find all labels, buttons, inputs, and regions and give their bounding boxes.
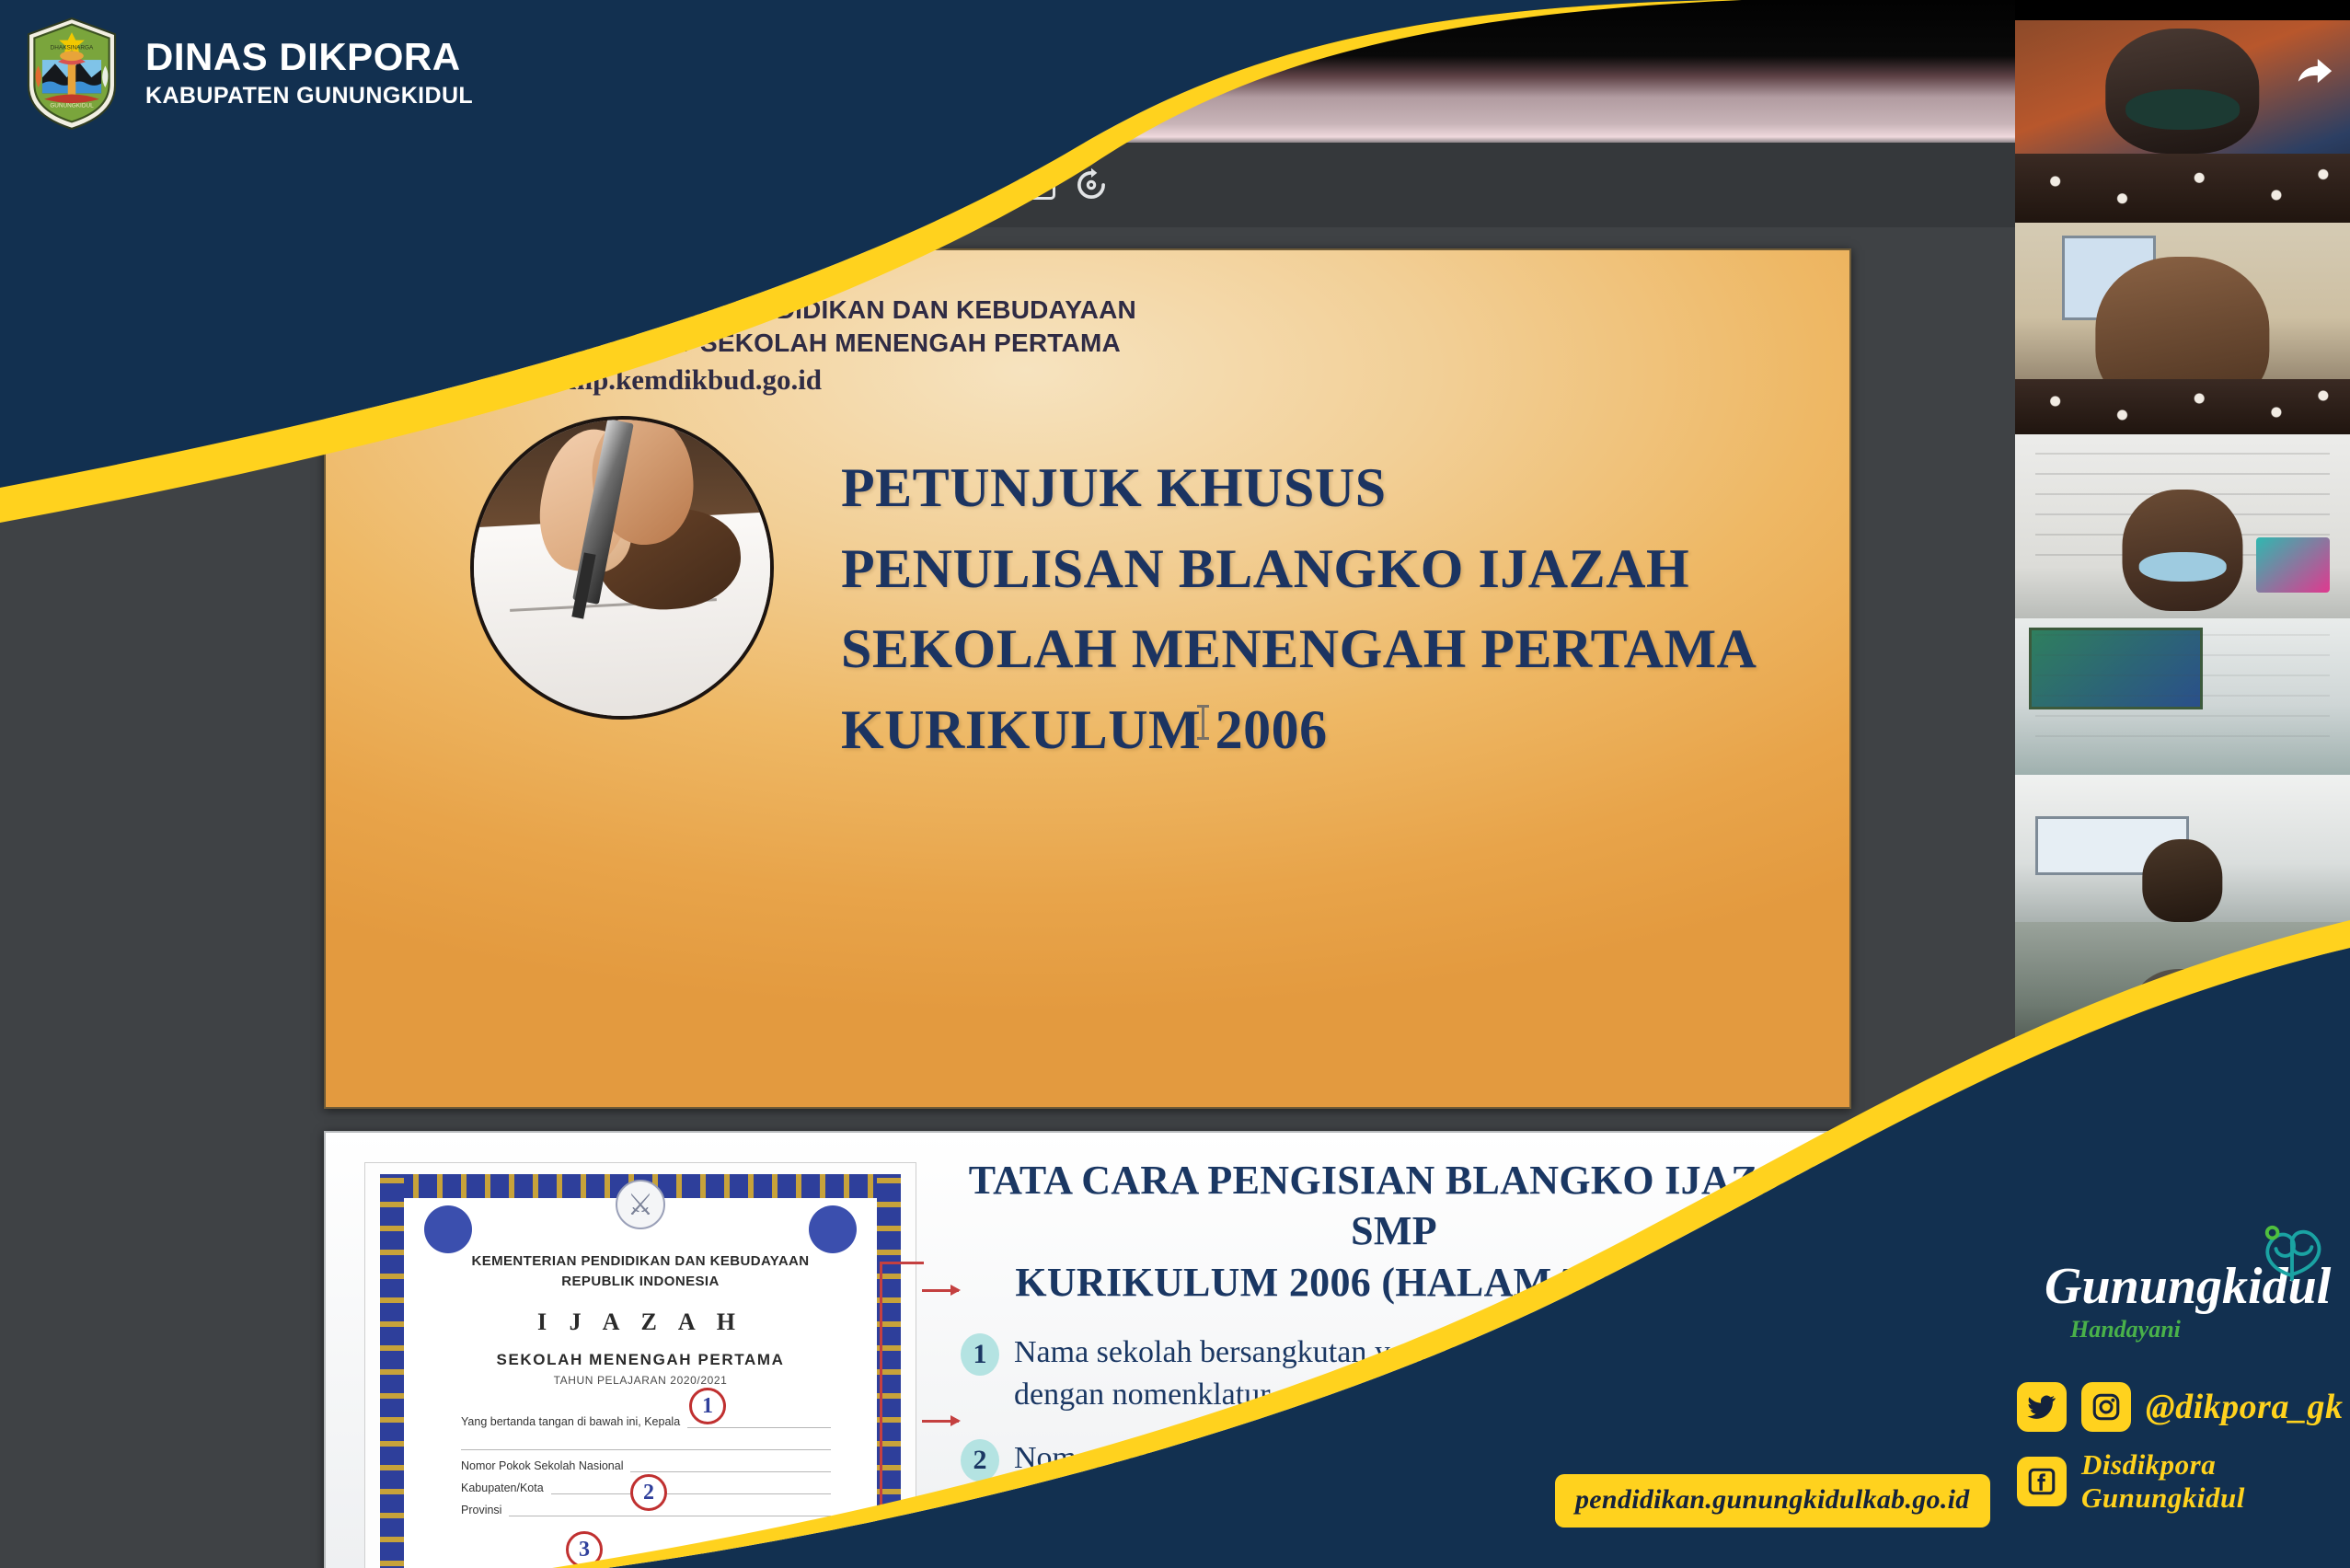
toolbar-divider-2 [987,169,989,201]
screenshot-root: 12 / 55 − 100% + [0,0,2350,1568]
participant-tile-2[interactable] [2015,223,2350,434]
list-item-text: Nomor Pokok Sekolah Nasional (NPSN) [1014,1437,1526,1480]
list-item-number: 3 [961,1505,999,1548]
text-cursor-icon [1202,705,1204,740]
svg-text:DHAKSINARGA: DHAKSINARGA [51,44,94,51]
certificate-field-label: Kabupaten/Kota [461,1482,544,1494]
ministry-line-2: DIREKTORAT SEKOLAH MENENGAH PERTAMA [524,327,1136,360]
certificate-blank-image: ⚔ KEMENTERIAN PENDIDIKAN DAN KEBUDAYAAN … [364,1162,916,1568]
current-page-input[interactable]: 12 [609,169,651,202]
instagram-icon[interactable] [2081,1382,2131,1432]
pdf-viewer: 12 / 55 − 100% + [0,143,2015,1568]
participant-tile-5[interactable] [2015,775,2350,922]
zoom-in-button[interactable]: + [917,169,958,201]
page-title: DINAS DIKPORA [145,38,473,77]
participant-tile-1[interactable] [2015,20,2350,223]
callout-connector-lines [880,1262,924,1565]
share-arrow-icon[interactable] [2291,52,2337,94]
rotate-clockwise-icon[interactable] [1072,166,1111,204]
handayani-tagline: Handayani [2070,1316,2315,1343]
ministry-header: TUT WURI HANDAYANI KEMENTERIAN PENDIDIKA… [359,271,1136,416]
certificate-title: I J A Z A H [461,1309,820,1336]
list-item: 1 Nama sekolah bersangkutan yang menerbi… [961,1332,1827,1415]
website-badge[interactable]: pendidikan.gunungkidulkab.go.id [1555,1474,1990,1528]
hand-writing-with-pen-photo [470,416,774,720]
participant-tile-4[interactable] [2015,618,2350,775]
gunungkidul-handayani-logo: Gunungkidul Handayani [2039,1261,2315,1343]
certificate-ministry-line-2: REPUBLIK INDONESIA [461,1272,820,1292]
certificate-ministry-line-1: KEMENTERIAN PENDIDIKAN DAN KEBUDAYAAN [461,1251,820,1272]
slide-title-line-1: PETUNJUK KHUSUS [841,448,1757,529]
certificate-field-row [461,1437,831,1450]
ministry-url: ditsmp.kemdikbud.go.id [524,362,1136,398]
certificate-callout-2: 2 [630,1474,667,1511]
list-item-number: 1 [961,1333,999,1376]
total-pages-label: 55 [676,172,702,199]
slide-title: PETUNJUK KHUSUS PENULISAN BLANGKO IJAZAH… [841,448,1757,770]
handayani-ornament-icon [2256,1220,2328,1285]
slide-title-line-3: SEKOLAH MENENGAH PERTAMA [841,609,1757,690]
zoom-level-input[interactable]: 100% [820,168,901,202]
participant-tile-3[interactable] [2015,434,2350,618]
list-item-text: Nama sekolah bersangkutan yang menerbitk… [1014,1332,1827,1415]
garuda-emblem-icon: ⚔ [616,1180,665,1229]
toolbar-divider-1 [731,169,733,201]
tut-wuri-handayani-logo-icon: TUT WURI HANDAYANI [359,271,504,416]
zoom-out-button[interactable]: − [763,169,803,201]
certificate-callout-3: 3 [566,1531,603,1568]
svg-text:TUT WURI HANDAYANI: TUT WURI HANDAYANI [372,288,491,301]
slide-title-line-4: KURIKULUM 2006 [841,690,1757,771]
page-subtitle: KABUPATEN GUNUNGKIDUL [145,83,473,110]
certificate-field-label: Nomor Pokok Sekolah Nasional [461,1459,623,1472]
slide2-heading-line-1: TATA CARA PENGISIAN BLANGKO IJAZAH SMP [961,1155,1827,1257]
social-links: @dikpora_gk Disdikpora Gunungkidul [2017,1382,2321,1531]
participant-tile-7[interactable] [2015,1060,2350,1237]
social-row-facebook: Disdikpora Gunungkidul [2017,1448,2321,1515]
certificate-level: SEKOLAH MENENGAH PERTAMA [461,1351,820,1369]
slide2-heading: TATA CARA PENGISIAN BLANGKO IJAZAH SMP K… [961,1155,1827,1308]
certificate-field-row: Nomor Pokok Sekolah Nasional [461,1459,831,1472]
facebook-handle[interactable]: Disdikpora Gunungkidul [2081,1448,2321,1515]
participant-tile-6[interactable] [2015,922,2350,1060]
slide-title-line-2: PENULISAN BLANGKO IJAZAH [841,529,1757,610]
certificate-year: TAHUN PELAJARAN 2020/2021 [461,1374,820,1387]
certificate-field-row: Yang bertanda tangan di bawah ini, Kepal… [461,1415,831,1428]
svg-text:GUNUNGKIDUL: GUNUNGKIDUL [50,102,94,109]
pdf-page-12[interactable]: TUT WURI HANDAYANI KEMENTERIAN PENDIDIKA… [324,248,1851,1109]
certificate-field-label: Yang bertanda tangan di bawah ini, Kepal… [461,1415,680,1428]
slide2-instruction-list: 1 Nama sekolah bersangkutan yang menerbi… [961,1332,1827,1568]
slide2-heading-line-2: KURIKULUM 2006 (HALAMAN DEPAN) [961,1257,1827,1308]
certificate-callout-1: 1 [689,1388,726,1424]
gunungkidul-regency-crest-icon: DHAKSINARGA GUNUNGKIDUL [22,17,121,131]
shared-screen-region: 12 / 55 − 100% + [0,0,2015,1568]
fit-to-page-icon[interactable] [1019,170,1055,200]
participant-video-strip [2015,0,2350,1237]
certificate-field-label: Provinsi [461,1504,501,1516]
pdf-toolbar: 12 / 55 − 100% + [0,143,2015,227]
social-row-primary: @dikpora_gk [2017,1382,2321,1432]
ministry-line-1: KEMENTERIAN PENDIDIKAN DAN KEBUDAYAAN [524,294,1136,327]
twitter-icon[interactable] [2017,1382,2067,1432]
page-separator: / [661,172,667,199]
social-handle[interactable]: @dikpora_gk [2146,1387,2343,1427]
brand-header: DHAKSINARGA GUNUNGKIDUL DINAS DIKPORA KA… [22,17,473,131]
list-item-number: 2 [961,1439,999,1482]
video-strip-top-bar [2015,0,2350,20]
facebook-icon[interactable] [2017,1457,2067,1506]
callout-arrows [922,1273,962,1549]
